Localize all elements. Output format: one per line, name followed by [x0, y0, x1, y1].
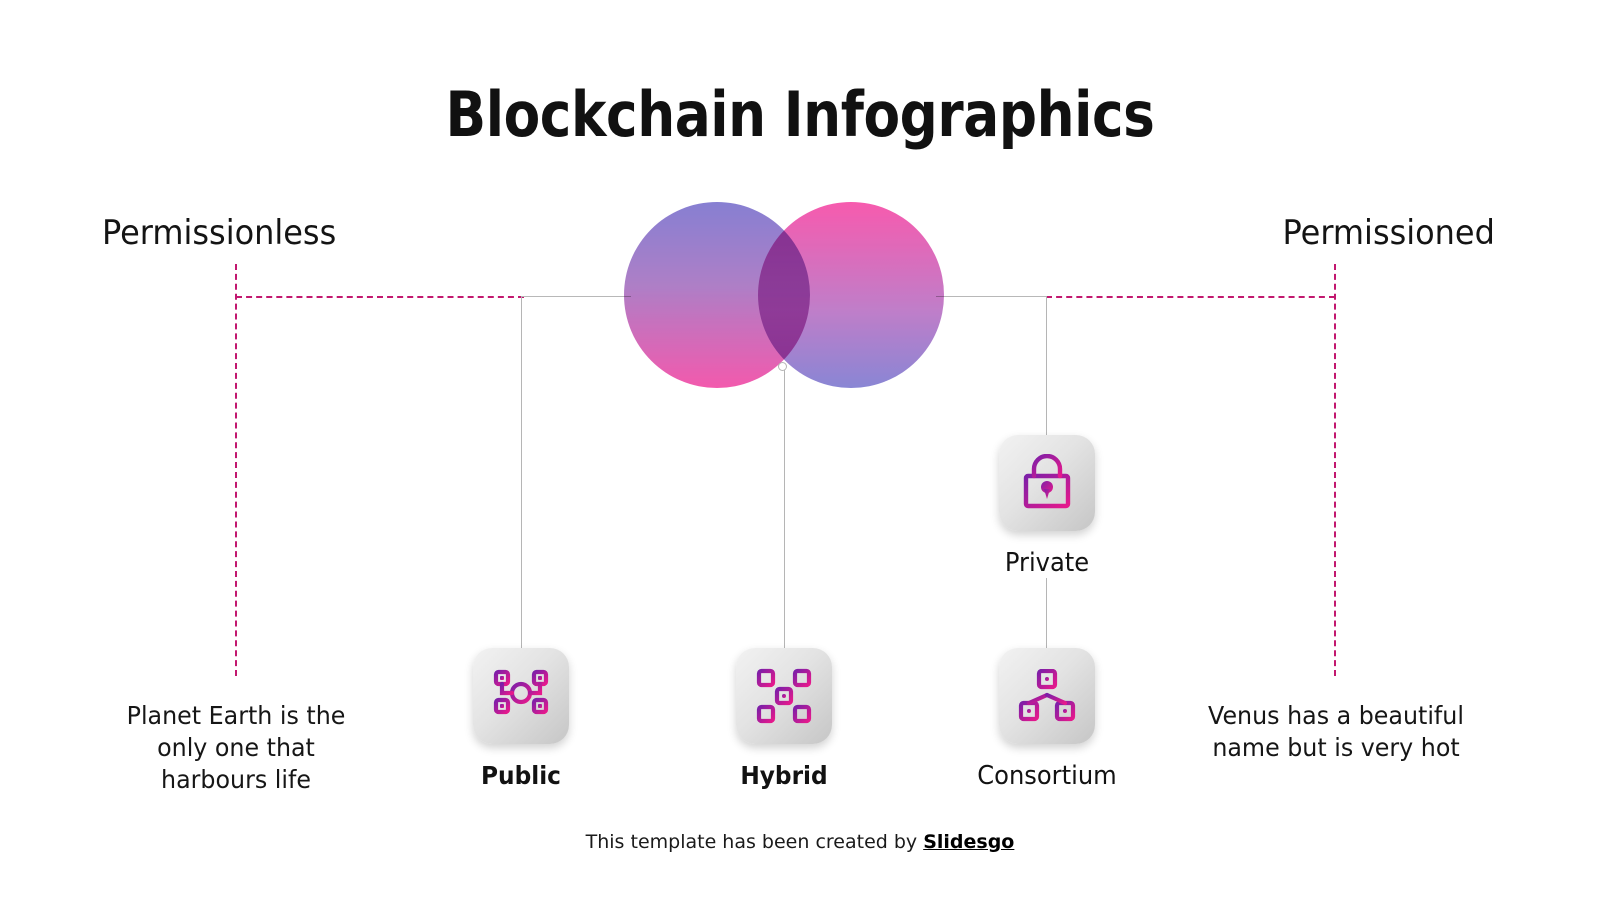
node-label-public: Public: [447, 761, 596, 790]
network-hub-icon: [492, 667, 550, 725]
qr-network-icon: [755, 667, 813, 725]
connector-line-hybrid: [784, 368, 785, 656]
connector-line-consortium: [1046, 578, 1047, 658]
venn-circle-permissioned: [758, 202, 944, 388]
page-title: Blockchain Infographics: [112, 78, 1488, 151]
node-label-consortium: Consortium: [973, 761, 1122, 791]
dashed-line-right-vertical: [1334, 264, 1336, 676]
axis-label-permissionless: Permissionless: [102, 213, 336, 253]
axis-label-permissioned: Permissioned: [1283, 213, 1495, 253]
icon-card-public[interactable]: [473, 648, 569, 744]
axis-segment-right: [936, 296, 1047, 297]
connector-line-public: [521, 296, 522, 656]
dashed-line-left-horizontal: [236, 296, 524, 298]
padlock-icon: [1019, 454, 1075, 512]
node-label-hybrid: Hybrid: [710, 761, 859, 790]
footer-credit: This template has been created by Slides…: [0, 831, 1600, 853]
description-permissionless: Planet Earth is the only one that harbou…: [107, 700, 365, 796]
node-consortium[interactable]: Consortium: [967, 648, 1127, 791]
node-hybrid[interactable]: Hybrid: [704, 648, 864, 790]
dashed-line-left-vertical: [235, 264, 237, 676]
slidesgo-link[interactable]: Slidesgo: [923, 831, 1014, 853]
node-private[interactable]: Private: [967, 435, 1127, 578]
axis-segment-left: [521, 296, 631, 297]
dashed-line-right-horizontal: [1046, 296, 1335, 298]
connector-node-hybrid: [778, 362, 787, 371]
connector-line-private: [1046, 296, 1047, 440]
slide-canvas: Blockchain Infographics Permissionless P…: [0, 0, 1600, 900]
icon-card-private[interactable]: [999, 435, 1095, 531]
footer-credit-text: This template has been created by: [586, 831, 924, 853]
node-label-private: Private: [973, 548, 1122, 578]
node-public[interactable]: Public: [441, 648, 601, 790]
hierarchy-nodes-icon: [1018, 669, 1076, 723]
icon-card-hybrid[interactable]: [736, 648, 832, 744]
icon-card-consortium[interactable]: [999, 648, 1095, 744]
description-permissioned: Venus has a beautiful name but is very h…: [1199, 700, 1473, 764]
